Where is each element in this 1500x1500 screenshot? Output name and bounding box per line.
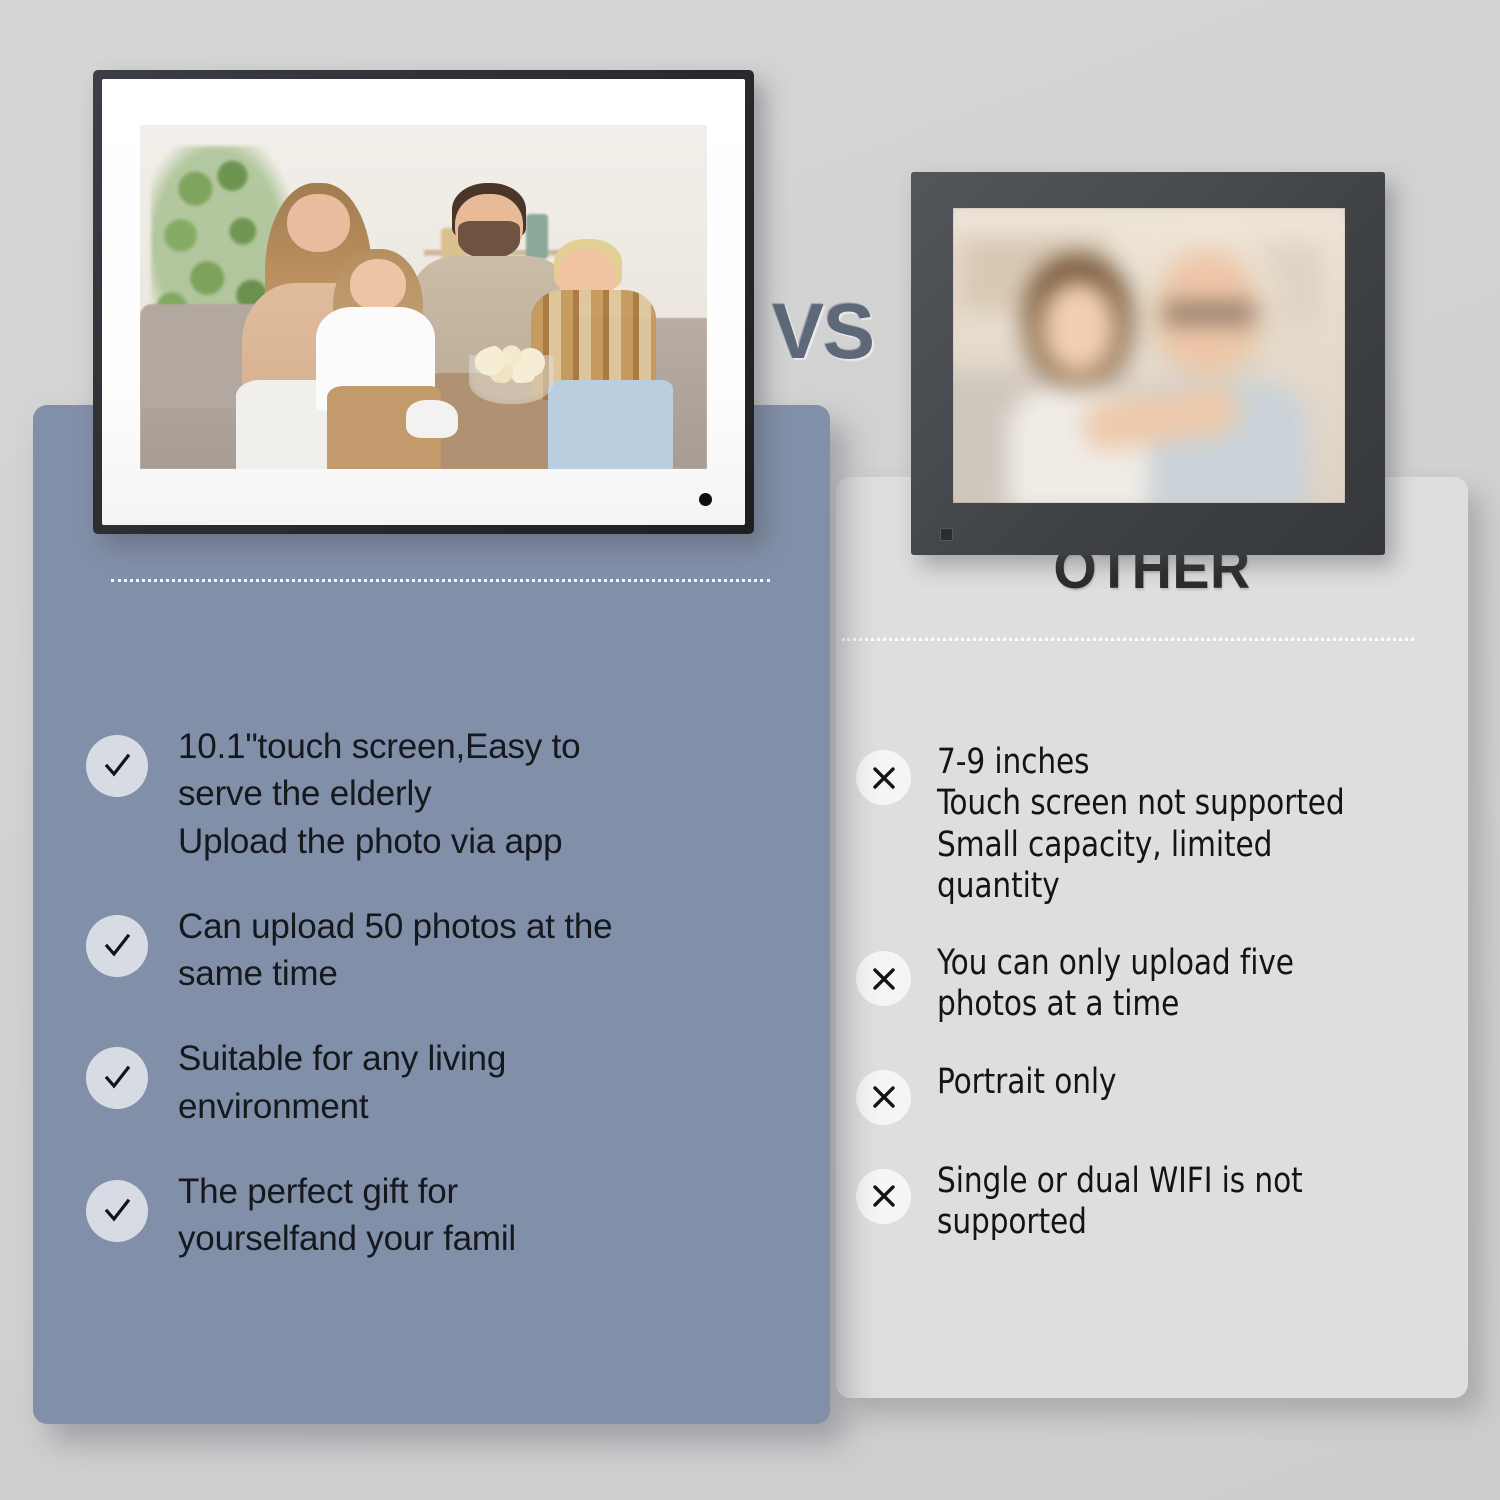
list-item-label: The perfect gift for yourselfand your fa… [178,1168,516,1263]
other-frame-screen [953,208,1345,503]
other-panel: OTHER 7-9 inches Touch screen not suppor… [836,477,1468,1398]
list-item-label: 10.1"touch screen,Easy to serve the elde… [178,723,580,865]
brand-divider [111,579,770,582]
light-sensor-square [940,528,953,541]
list-item: You can only upload five photos at a tim… [836,943,1468,1026]
other-product-frame [911,172,1385,555]
list-item: Single or dual WIFI is not supported [836,1161,1468,1244]
cross-icon [856,750,911,805]
comparison-infographic: OTHER 7-9 inches Touch screen not suppor… [0,0,1500,1500]
list-item: Portrait only [836,1062,1468,1125]
list-item-label: 7-9 inches Touch screen not supported Sm… [937,742,1345,907]
list-item: Suitable for any living environment [33,1035,830,1130]
check-icon [86,735,148,797]
check-icon [86,1047,148,1109]
family-photo [140,125,707,469]
list-item-label: Suitable for any living environment [178,1035,506,1130]
cross-icon [856,1070,911,1125]
brand-frame-screen [140,125,707,469]
other-feature-list: 7-9 inches Touch screen not supported Sm… [836,742,1468,1243]
check-icon [86,1180,148,1242]
list-item-label: Can upload 50 photos at the same time [178,903,612,998]
brand-product-frame [93,70,754,534]
cross-icon [856,951,911,1006]
list-item: 10.1"touch screen,Easy to serve the elde… [33,723,830,865]
list-item: Can upload 50 photos at the same time [33,903,830,998]
list-item: 7-9 inches Touch screen not supported Sm… [836,742,1468,907]
list-item-label: You can only upload five photos at a tim… [937,943,1294,1026]
brand-panel: UNSERE MARKE 10.1"touch screen,Easy to s… [33,405,830,1424]
brand-frame-mat [102,79,745,525]
grandparent-photo [953,208,1345,503]
check-icon [86,915,148,977]
versus-label: VS [772,286,874,377]
list-item: The perfect gift for yourselfand your fa… [33,1168,830,1263]
brand-feature-list: 10.1"touch screen,Easy to serve the elde… [33,723,830,1262]
list-item-label: Portrait only [937,1062,1116,1103]
list-item-label: Single or dual WIFI is not supported [937,1161,1303,1244]
cross-icon [856,1169,911,1224]
other-divider [842,638,1414,641]
light-sensor-dot [699,493,712,506]
